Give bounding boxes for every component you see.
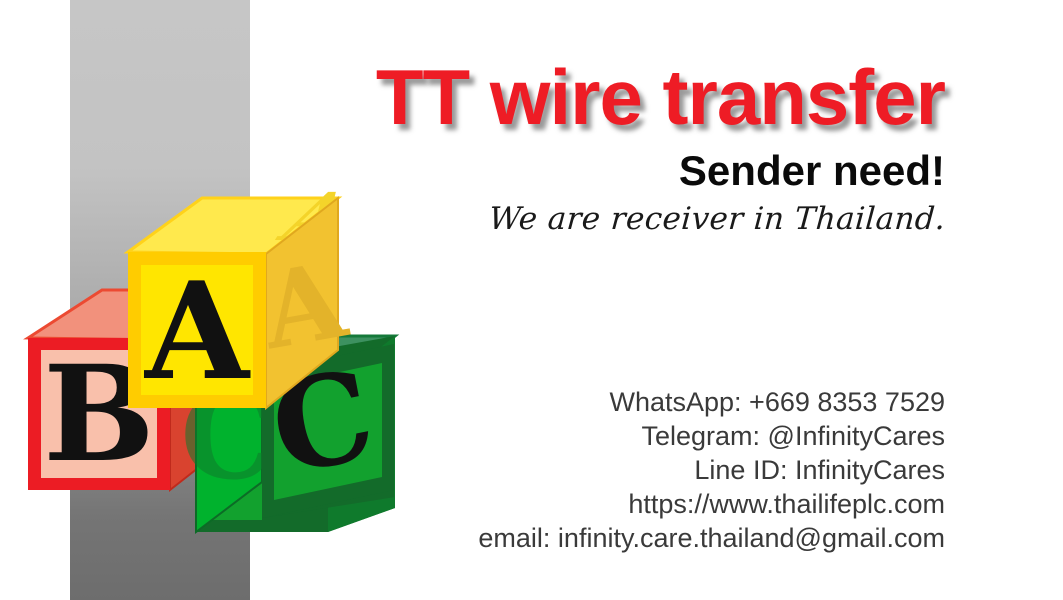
contact-telegram: Telegram: @InfinityCares [478,419,945,453]
contact-website[interactable]: https://www.thailifeplc.com [478,487,945,521]
text-column: TT wire transfer Sender need! We are rec… [250,0,1058,600]
subtitle: Sender need! [679,150,945,192]
contact-email[interactable]: email: infinity.care.thailand@gmail.com [478,521,945,555]
contact-line-id: Line ID: InfinityCares [478,453,945,487]
tagline: We are receiver in Thailand. [488,204,947,235]
page-title: TT wire transfer [376,58,945,136]
contact-whatsapp: WhatsApp: +669 8353 7529 [478,385,945,419]
block-a-letter: A [143,252,251,410]
poster-canvas: B C [0,0,1063,600]
contact-block: WhatsApp: +669 8353 7529 Telegram: @Infi… [478,385,945,555]
